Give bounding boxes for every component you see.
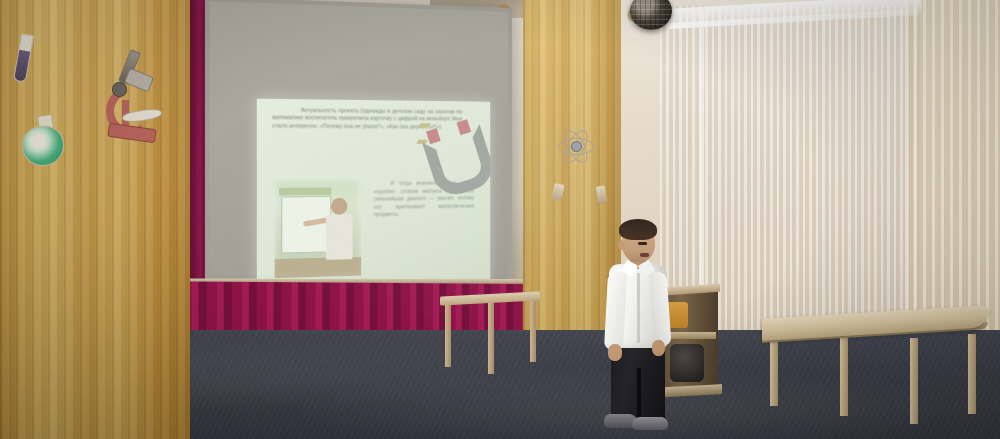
microscope-icon: [98, 50, 158, 145]
table-leg: [445, 301, 451, 367]
photo-scene: Актуальность проекта (однажды в детском …: [0, 0, 1000, 439]
small-table: [440, 294, 540, 378]
child-shoe-right: [632, 417, 668, 430]
child-shirt-placket: [637, 273, 640, 343]
child-hand-right: [652, 340, 665, 356]
horseshoe-magnet-icon: [417, 119, 478, 174]
child-leg-split: [637, 368, 641, 424]
child-arm-left: [604, 272, 627, 351]
table-leg: [530, 300, 536, 362]
large-table: [762, 312, 988, 428]
flask-icon: [18, 115, 68, 167]
test-tube-glass: [13, 33, 34, 83]
slide-photo-floor: [275, 257, 362, 278]
slide-photo-board-top: [279, 188, 331, 196]
atom-icon: [558, 128, 592, 162]
table-leg: [840, 334, 848, 416]
microscope-eyepiece: [112, 82, 127, 97]
child-eye: [638, 242, 647, 245]
table-leg: [910, 338, 918, 424]
screen-frame: Актуальность проекта (однажды в детском …: [205, 0, 512, 309]
presenting-child: [596, 218, 682, 433]
projection-screen: Актуальность проекта (однажды в детском …: [222, 0, 522, 300]
slide-photo-child-head: [331, 198, 347, 215]
child-mouth: [640, 253, 649, 257]
child-ear: [618, 240, 625, 250]
flask-body: [19, 123, 66, 168]
atom-nucleus: [571, 141, 582, 152]
test-tube-icon: [14, 30, 32, 86]
magnet-spark-icon: [418, 123, 430, 127]
slide-photo-child-body: [326, 213, 353, 259]
table-leg: [968, 334, 976, 414]
child-hand-left: [608, 344, 622, 361]
projected-slide: Актуальность проекта (однажды в детском …: [257, 99, 490, 289]
table-leg: [488, 302, 494, 374]
slide-photo: [275, 179, 362, 278]
table-leg: [770, 332, 778, 406]
screen-surface: Актуальность проекта (однажды в детском …: [210, 1, 509, 303]
